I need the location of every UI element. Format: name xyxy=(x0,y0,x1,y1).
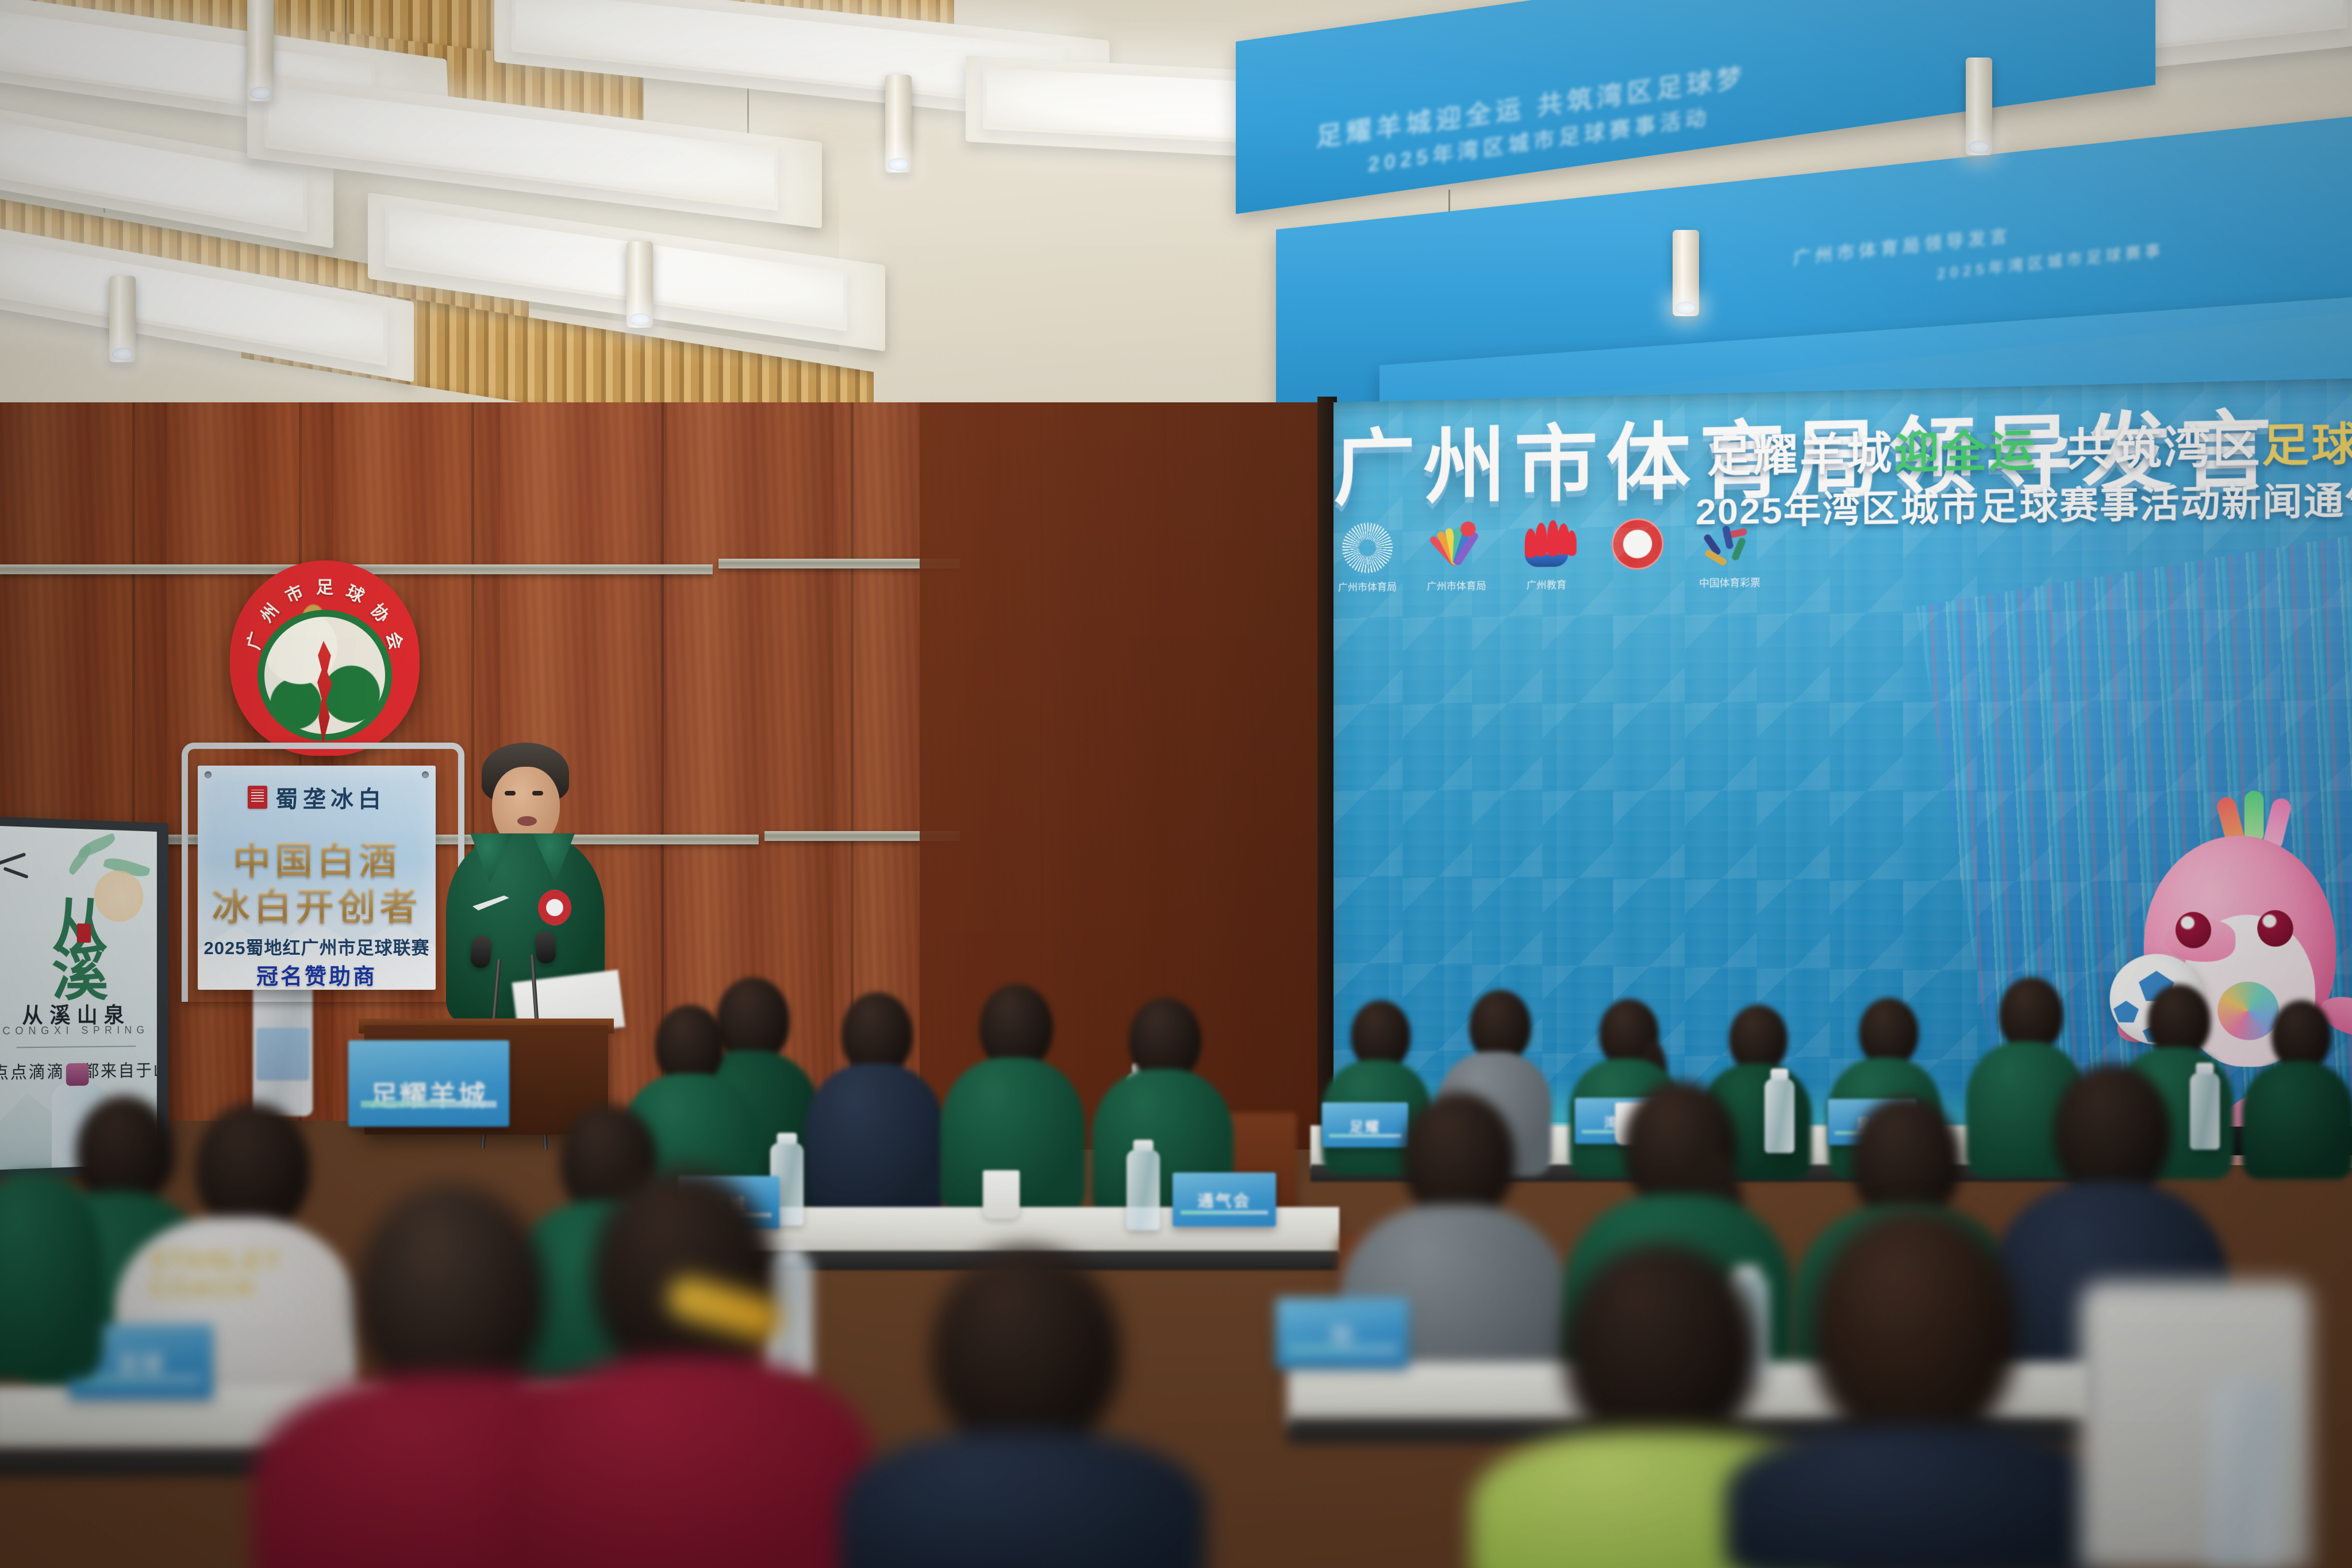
crown-petal xyxy=(1547,520,1559,556)
ceiling-spotlight xyxy=(885,75,912,172)
podium-banner-rig: 蜀垄冰白 中国白酒 冰白开创者 2025蜀地红广州市足球联赛 冠名赞助商 xyxy=(182,743,452,996)
paper-cup xyxy=(983,1170,1020,1219)
standee-seal-icon xyxy=(77,924,91,943)
sports-lottery-icon xyxy=(1704,517,1755,568)
audience-member-foreground xyxy=(506,1167,874,1568)
audience-member xyxy=(2242,1000,2352,1178)
banner-sponsor-label: 冠名赞助商 xyxy=(198,959,436,990)
ceiling-spotlight xyxy=(1673,230,1699,316)
audience-member-foreground xyxy=(1724,1207,2115,1568)
emblem-arc-char: 州 xyxy=(253,597,283,627)
banner-brand: 蜀垄冰白 xyxy=(275,781,386,814)
crown-petal xyxy=(1525,529,1536,558)
crown-icon xyxy=(1521,520,1572,570)
ceiling-spotlight xyxy=(247,0,274,101)
standee-logo-glyph: 从溪 xyxy=(43,902,114,987)
emblem-arc-char: 球 xyxy=(343,578,369,608)
ceiling-spotlight xyxy=(109,276,136,362)
ceiling: 足耀羊城迎全运 共筑湾区足球梦 2025年湾区城市足球赛事活动 广州市体育局领导… xyxy=(0,0,2352,448)
ceiling-spotlight xyxy=(627,241,653,328)
banner-brand-row: 蜀垄冰白 xyxy=(198,781,436,814)
crown-petal xyxy=(1535,522,1547,556)
podium-speaker xyxy=(437,747,609,1023)
crown-petal xyxy=(1567,531,1576,556)
logo-sports-lottery: 中国体育彩票 xyxy=(1694,514,1766,590)
press-conference-photo: 足耀羊城迎全运 共筑湾区足球梦 2025年湾区城市足球赛事活动 广州市体育局领导… xyxy=(0,0,2352,1568)
name-placard: 通气会 xyxy=(1173,1173,1276,1227)
name-placard: 刘 xyxy=(1276,1298,1408,1368)
logo-athlete-rainbow: 广州市体育局 xyxy=(1422,518,1490,593)
athlete-rainbow-icon xyxy=(1430,520,1482,573)
ceiling-spotlight xyxy=(1966,57,1992,155)
speaker-mouth xyxy=(517,816,537,826)
speaker-eye xyxy=(532,791,543,795)
water-bottle xyxy=(1127,1150,1160,1230)
lottery-stick xyxy=(1731,537,1746,562)
water-bottle xyxy=(2207,1385,2282,1568)
emblem-arc-char: 市 xyxy=(280,578,307,608)
banner-subline: 2025蜀地红广州市足球联赛 xyxy=(198,933,436,959)
speaker-shirt-badge xyxy=(538,890,571,925)
podium-microphone xyxy=(535,931,556,964)
audience-member-foreground xyxy=(839,1247,1207,1568)
banner-headline-2: 冰白开创者 xyxy=(198,876,436,931)
standee-brand-en: CONGXI SPRING xyxy=(0,1024,157,1038)
emblem-arc-char: 广 xyxy=(239,629,268,652)
guangzhou-football-association-emblem: 广州市足球协会 xyxy=(230,560,420,756)
emblem-arc-char: 协 xyxy=(366,597,397,627)
speaker-eye xyxy=(505,791,516,795)
emblem-arc-char: 足 xyxy=(316,573,333,598)
sponsor-banner: 蜀垄冰白 中国白酒 冰白开创者 2025蜀地红广州市足球联赛 冠名赞助商 xyxy=(198,766,436,990)
brand-seal-icon xyxy=(248,786,267,809)
emblem-arc-char: 会 xyxy=(382,629,410,652)
audience-member xyxy=(0,1138,103,1379)
name-placard: 足耀羊城 xyxy=(348,1040,509,1127)
standee-divider xyxy=(17,1046,136,1048)
